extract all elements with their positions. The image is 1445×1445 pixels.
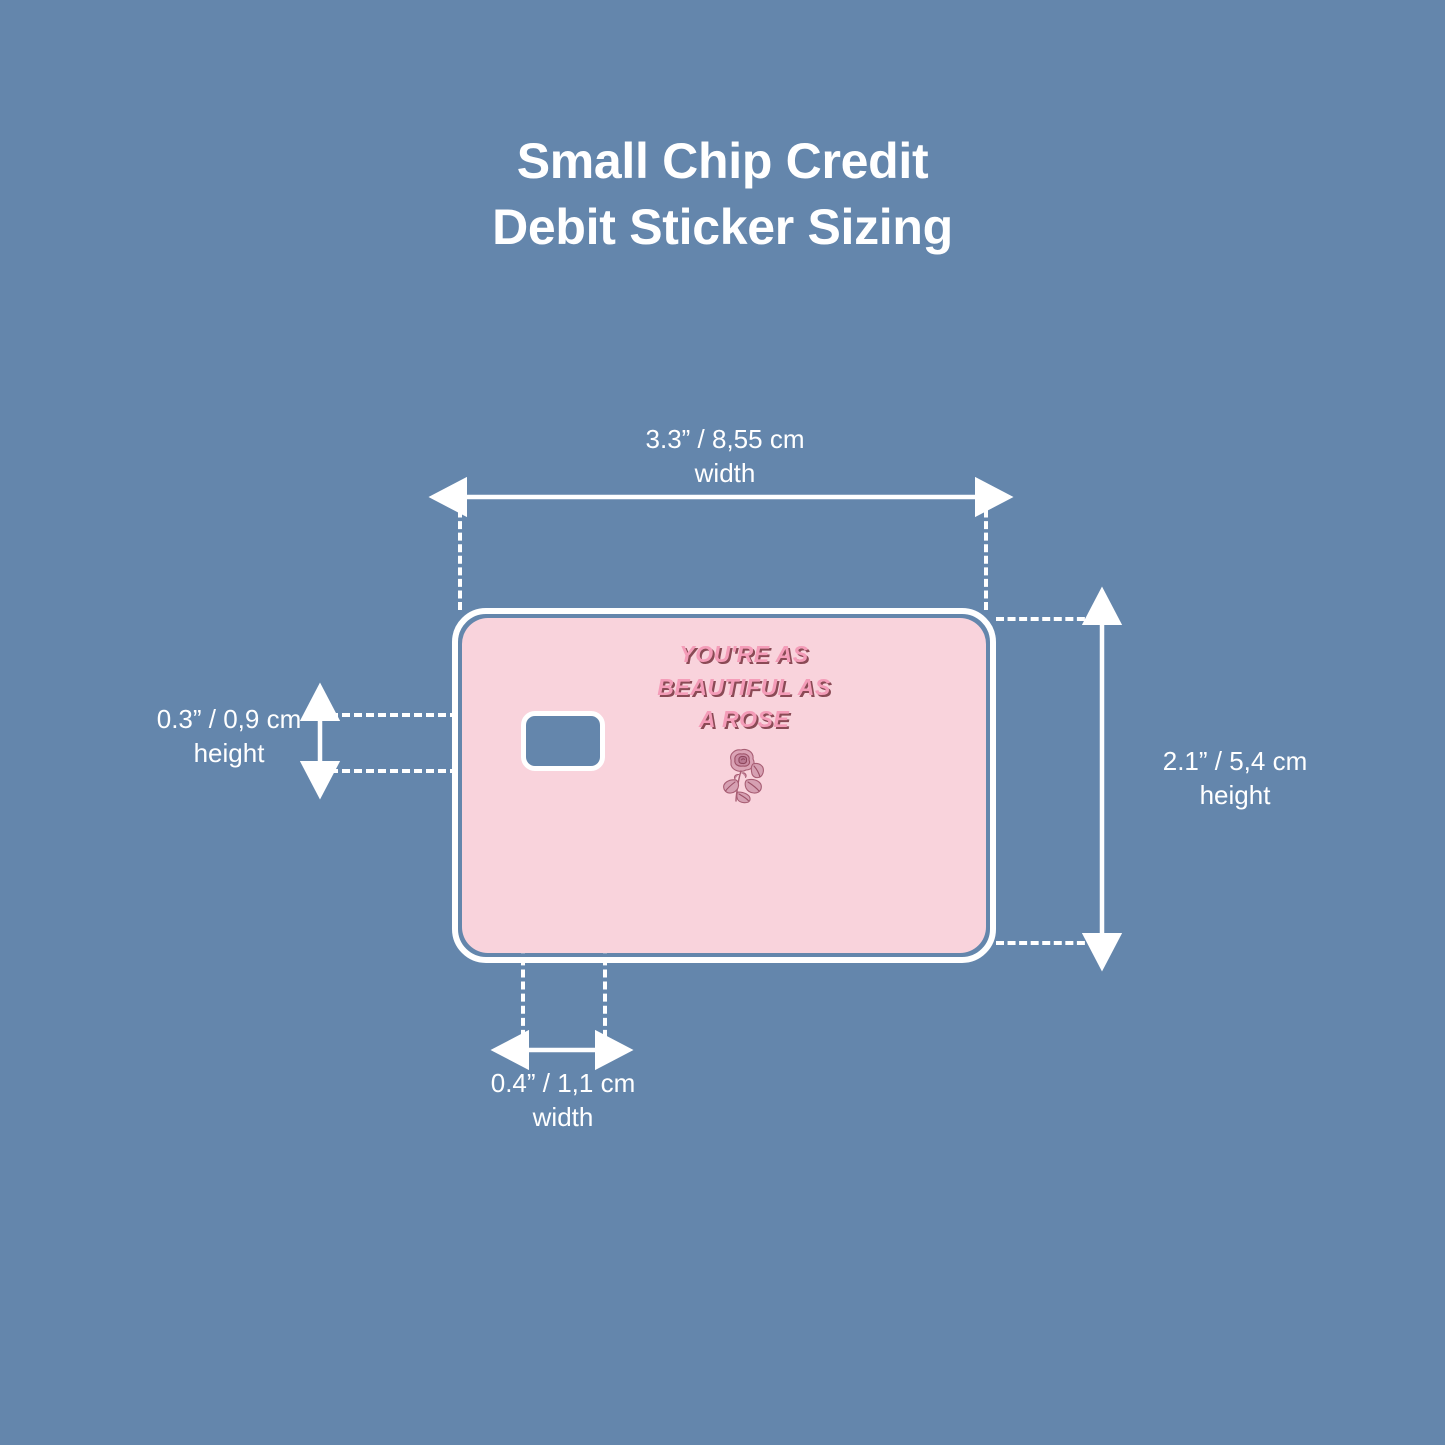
- extension-line-right-bottom: [996, 941, 1108, 945]
- chip-cutout: [521, 711, 605, 771]
- extension-line-right-top: [996, 617, 1108, 621]
- sticker-quote-line-1: YOU'RE AS: [502, 638, 986, 671]
- dimension-label-top-width: 3.3” / 8,55 cm width: [565, 422, 885, 491]
- sticker-sizing-diagram: Small Chip Credit Debit Sticker Sizing 3…: [0, 0, 1445, 1445]
- dimension-label-bottom-width: 0.4” / 1,1 cm width: [448, 1066, 678, 1135]
- dimension-value-left: 0.3” / 0,9 cm: [157, 704, 302, 734]
- sticker-quote-line-2: BEAUTIFUL AS: [502, 671, 986, 704]
- extension-line-top-left: [458, 498, 462, 610]
- dimension-label-right-height: 2.1” / 5,4 cm height: [1120, 744, 1350, 813]
- dimension-value-bottom: 0.4” / 1,1 cm: [491, 1068, 636, 1098]
- dimension-axis-top: width: [565, 456, 885, 490]
- dimension-axis-bottom: width: [448, 1100, 678, 1134]
- page-title: Small Chip Credit Debit Sticker Sizing: [0, 128, 1445, 260]
- rose-icon: [711, 746, 777, 804]
- page-title-line-2: Debit Sticker Sizing: [0, 194, 1445, 260]
- dimension-axis-right: height: [1120, 778, 1350, 812]
- dimension-axis-left: height: [84, 736, 374, 770]
- extension-line-top-right: [984, 498, 988, 610]
- dimension-value-right: 2.1” / 5,4 cm: [1163, 746, 1308, 776]
- dimension-value-top: 3.3” / 8,55 cm: [646, 424, 805, 454]
- sticker-card: YOU'RE AS BEAUTIFUL AS A ROSE: [462, 618, 986, 953]
- page-title-line-1: Small Chip Credit: [0, 128, 1445, 194]
